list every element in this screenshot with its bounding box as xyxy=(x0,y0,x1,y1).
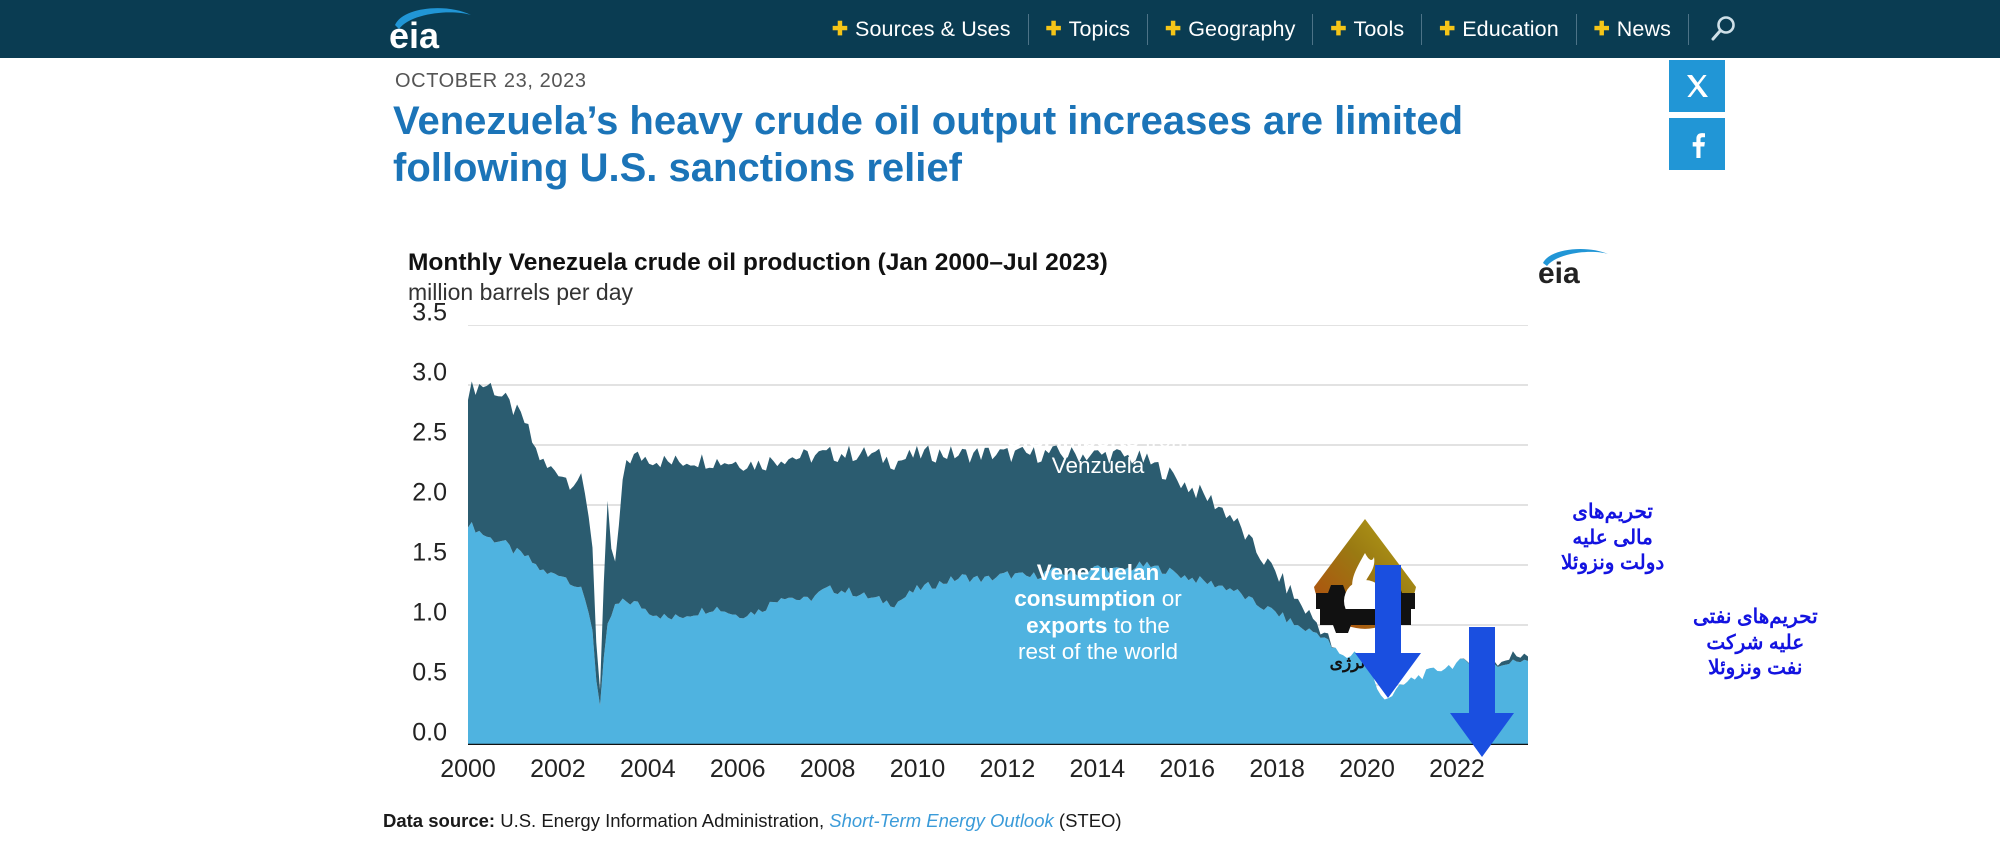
plus-icon: ✚ xyxy=(1594,20,1610,39)
nav-item-label: Geography xyxy=(1188,17,1295,42)
x-axis-tick-label: 2004 xyxy=(620,755,676,784)
x-axis-tick-label: 2012 xyxy=(980,755,1036,784)
x-axis-tick-label: 2002 xyxy=(530,755,586,784)
annotation-financial-sanctions: تحریم‌های مالی علیه دولت ونزوئلا xyxy=(1561,500,1664,577)
steo-link[interactable]: Short-Term Energy Outlook xyxy=(829,810,1054,831)
x-axis-tick-label: 2022 xyxy=(1429,755,1485,784)
x-axis-tick-label: 2008 xyxy=(800,755,856,784)
nav-item-geography[interactable]: ✚ Geography xyxy=(1148,14,1313,45)
social-share-buttons xyxy=(1669,60,1725,170)
annotation-line: علیه شرکت xyxy=(1693,631,1818,657)
top-navigation-bar: eia ✚ Sources & Uses ✚ Topics ✚ Geograph… xyxy=(0,0,2000,58)
annotation-line: تحریم‌های xyxy=(1561,500,1664,526)
article-date: OCTOBER 23, 2023 xyxy=(395,70,587,93)
svg-text:eia: eia xyxy=(1538,257,1580,287)
x-axis-tick-label: 2016 xyxy=(1159,755,1215,784)
nav-item-label: Education xyxy=(1462,17,1559,42)
nav-item-tools[interactable]: ✚ Tools xyxy=(1313,14,1422,45)
search-icon[interactable] xyxy=(1709,14,1739,44)
svg-text:eia: eia xyxy=(389,15,440,53)
y-axis-tick-label: 3.5 xyxy=(412,299,447,328)
data-source-body: U.S. Energy Information Administration, xyxy=(495,810,829,831)
annotation-oil-sanctions: تحریم‌های نفتی علیه شرکت نفت ونزوئلا xyxy=(1693,605,1818,682)
facebook-share-button[interactable] xyxy=(1669,118,1725,170)
plus-icon: ✚ xyxy=(1330,20,1346,39)
annotation-line: دولت ونزوئلا xyxy=(1561,551,1664,577)
page-title: Venezuela’s heavy crude oil output incre… xyxy=(393,98,1523,192)
x-axis-labels: 2000200220042006200820102012201420162018… xyxy=(468,755,1538,795)
chart-title: Monthly Venezuela crude oil production (… xyxy=(408,249,1108,277)
x-icon xyxy=(1682,71,1712,101)
eia-logo-chart: eia xyxy=(1535,245,1613,287)
y-axis-tick-label: 0.5 xyxy=(412,659,447,688)
y-axis-tick-label: 2.5 xyxy=(412,419,447,448)
y-axis-tick-label: 2.0 xyxy=(412,479,447,508)
y-axis-tick-label: 3.0 xyxy=(412,359,447,388)
arrow-down-oil-sanctions xyxy=(1448,627,1516,759)
nav-item-label: Tools xyxy=(1354,17,1405,42)
plus-icon: ✚ xyxy=(1046,20,1062,39)
annotation-line: تحریم‌های نفتی xyxy=(1693,605,1818,631)
y-axis-labels: 0.00.51.01.52.02.53.03.5 xyxy=(383,313,463,753)
plus-icon: ✚ xyxy=(832,20,848,39)
x-axis-tick-label: 2006 xyxy=(710,755,766,784)
annotation-line: نفت ونزوئلا xyxy=(1693,656,1818,682)
plus-icon: ✚ xyxy=(1165,20,1181,39)
data-source-suffix: (STEO) xyxy=(1054,810,1122,831)
y-axis-tick-label: 1.0 xyxy=(412,599,447,628)
nav-item-education[interactable]: ✚ Education xyxy=(1422,14,1577,45)
x-axis-tick-label: 2000 xyxy=(440,755,496,784)
y-axis-tick-label: 0.0 xyxy=(412,719,447,748)
arrow-down-financial-sanctions xyxy=(1353,565,1423,700)
nav-items: ✚ Sources & Uses ✚ Topics ✚ Geography ✚ … xyxy=(815,0,1739,58)
eia-logo[interactable]: eia xyxy=(385,3,477,53)
nav-item-news[interactable]: ✚ News xyxy=(1577,14,1689,45)
nav-item-sources-uses[interactable]: ✚ Sources & Uses xyxy=(815,14,1029,45)
x-axis-tick-label: 2014 xyxy=(1070,755,1126,784)
nav-item-label: Topics xyxy=(1069,17,1131,42)
data-source-line: Data source: U.S. Energy Information Adm… xyxy=(383,810,1122,832)
plus-icon: ✚ xyxy=(1439,20,1455,39)
x-axis-tick-label: 2018 xyxy=(1249,755,1305,784)
x-axis-tick-label: 2020 xyxy=(1339,755,1395,784)
nav-item-label: Sources & Uses xyxy=(855,17,1011,42)
x-twitter-share-button[interactable] xyxy=(1669,60,1725,112)
x-axis-tick-label: 2010 xyxy=(890,755,946,784)
chart-figure: Monthly Venezuela crude oil production (… xyxy=(383,235,1613,855)
annotation-line: مالی علیه xyxy=(1561,526,1664,552)
y-axis-tick-label: 1.5 xyxy=(412,539,447,568)
nav-item-label: News xyxy=(1617,17,1671,42)
nav-item-topics[interactable]: ✚ Topics xyxy=(1029,14,1149,45)
facebook-icon xyxy=(1682,129,1712,159)
data-source-prefix: Data source: xyxy=(383,810,495,831)
